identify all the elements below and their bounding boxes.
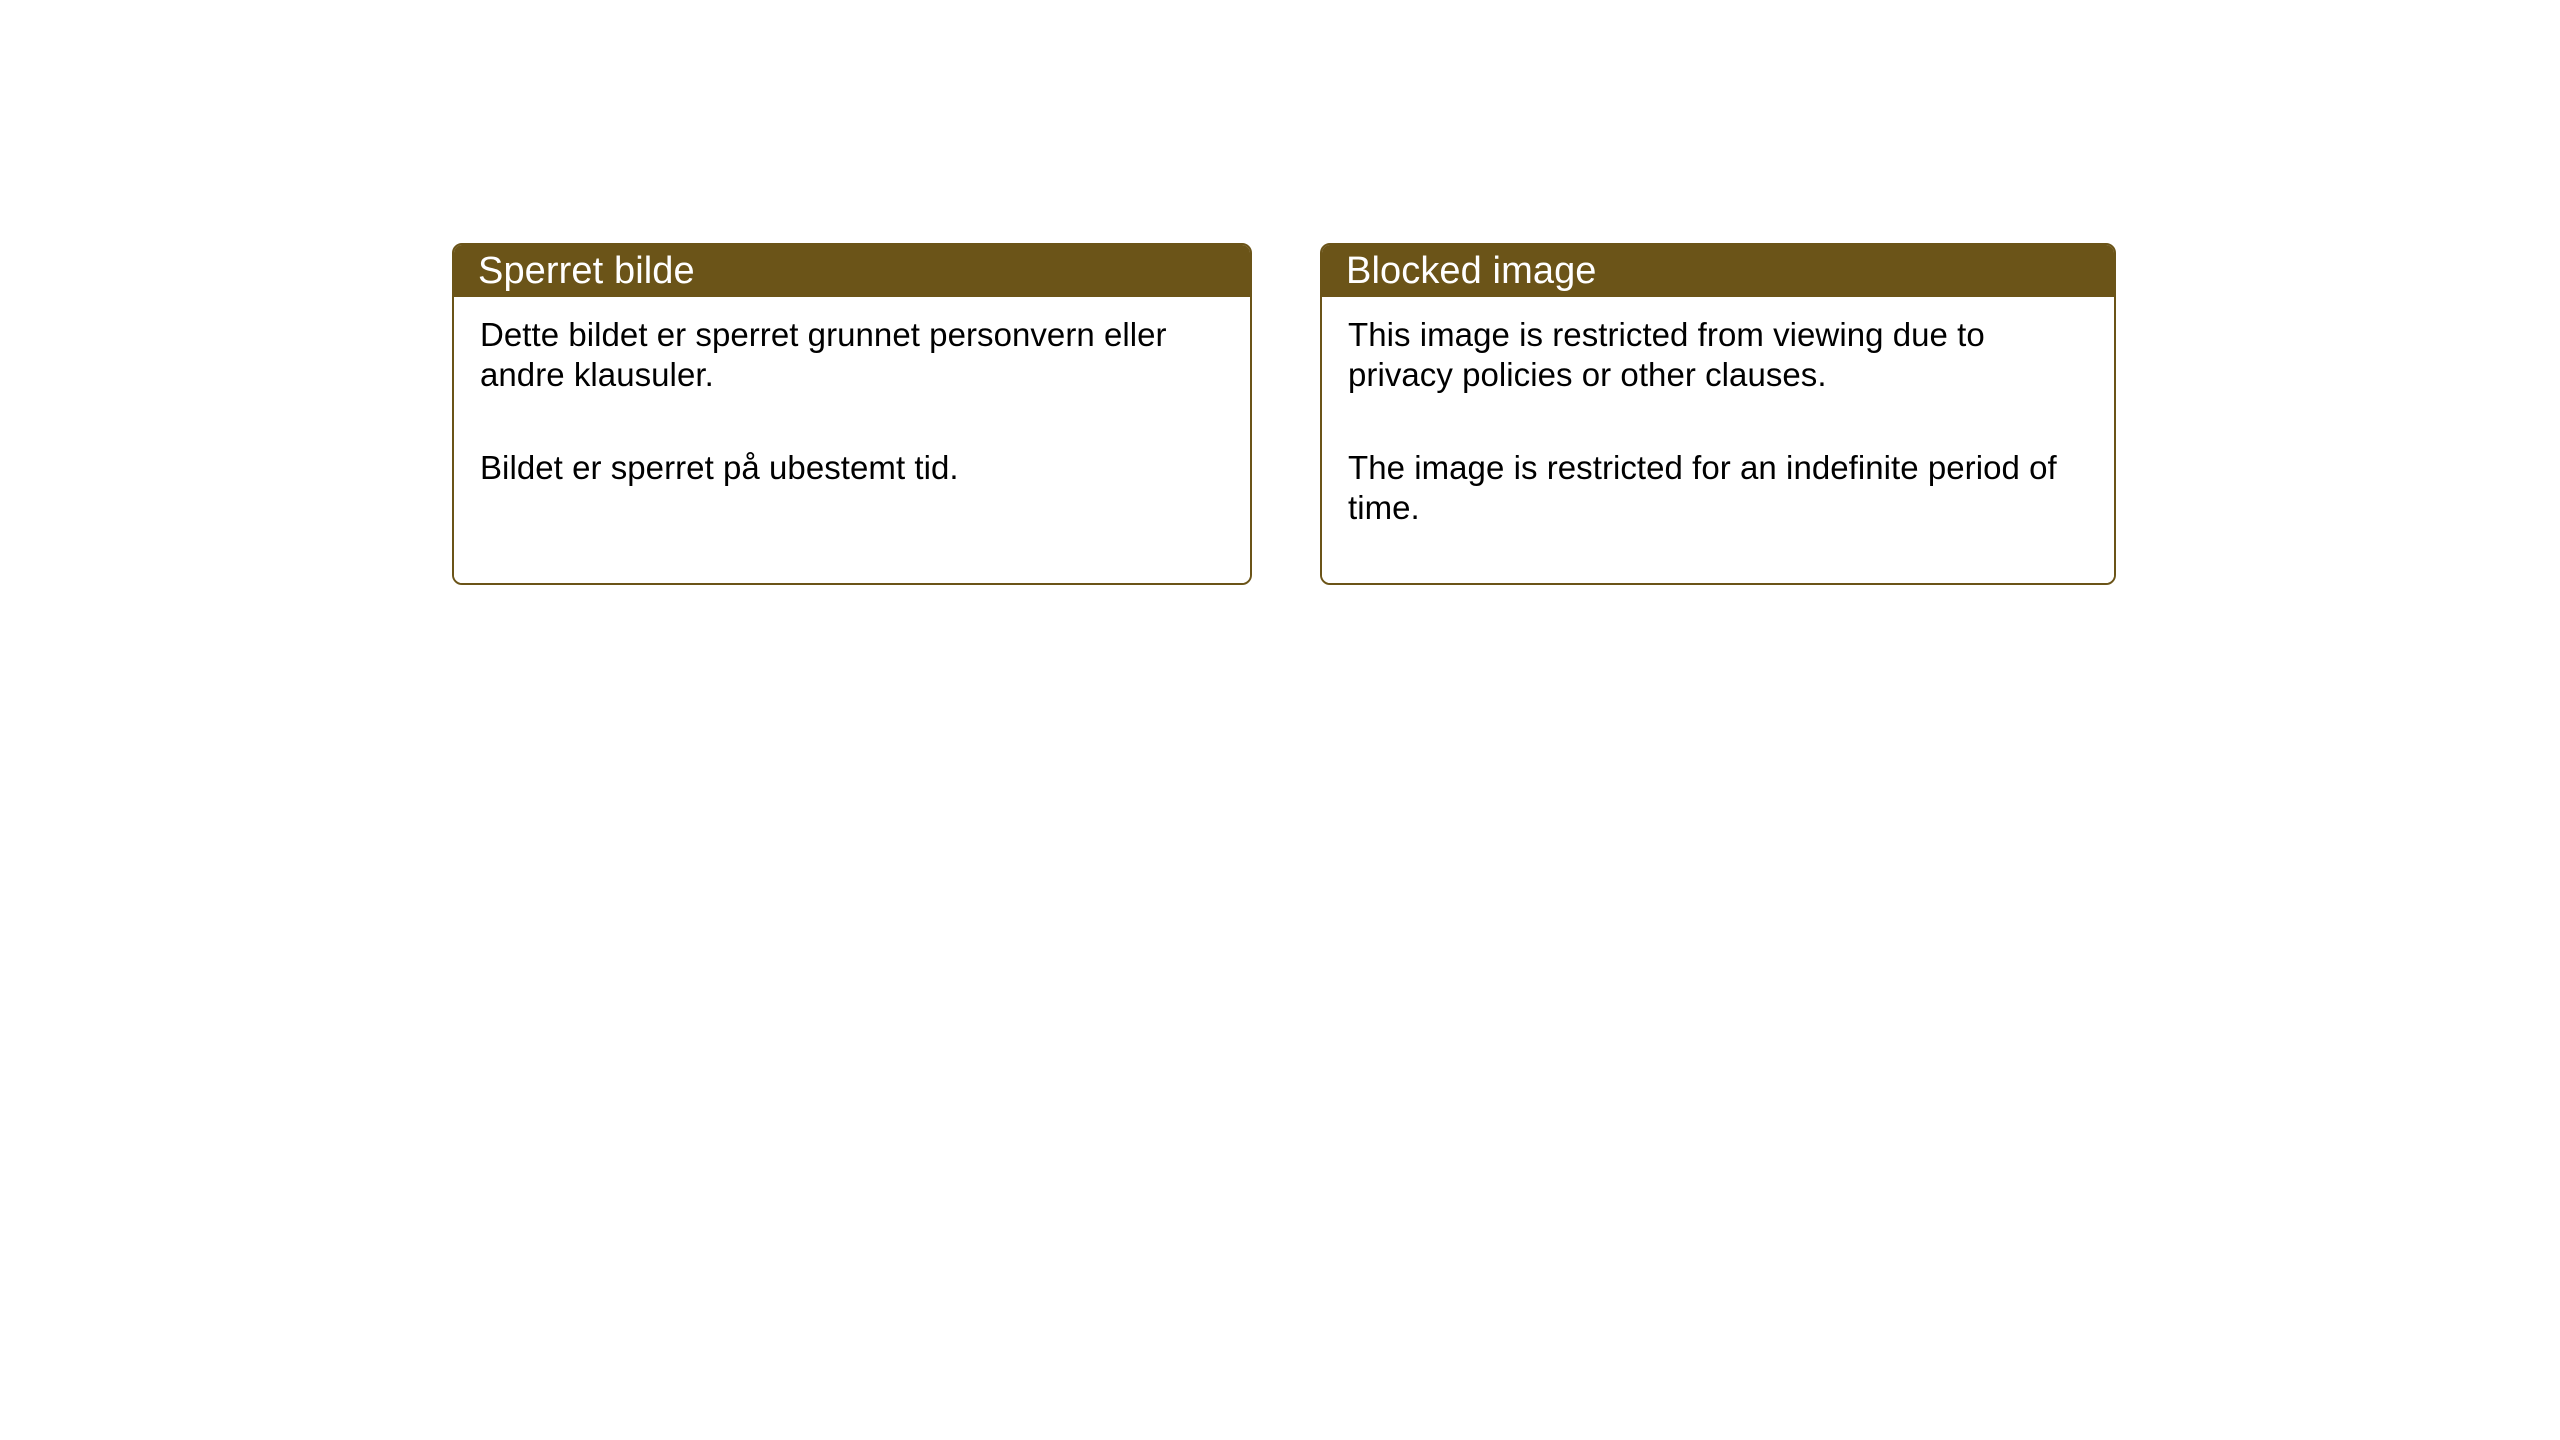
card-header-norwegian: Sperret bilde: [454, 245, 1250, 297]
blocked-image-notice-group: Sperret bilde Dette bildet er sperret gr…: [452, 243, 2116, 585]
card-paragraph-english-1: This image is restricted from viewing du…: [1348, 315, 2088, 396]
blocked-image-card-norwegian: Sperret bilde Dette bildet er sperret gr…: [452, 243, 1252, 585]
card-body-english: This image is restricted from viewing du…: [1322, 297, 2114, 583]
card-paragraph-norwegian-2: Bildet er sperret på ubestemt tid.: [480, 448, 1224, 488]
card-paragraph-norwegian-1: Dette bildet er sperret grunnet personve…: [480, 315, 1224, 396]
card-title-english: Blocked image: [1346, 252, 1597, 290]
card-body-norwegian: Dette bildet er sperret grunnet personve…: [454, 297, 1250, 583]
card-paragraph-english-2: The image is restricted for an indefinit…: [1348, 448, 2088, 529]
page-root: Sperret bilde Dette bildet er sperret gr…: [0, 0, 2560, 1440]
card-title-norwegian: Sperret bilde: [478, 252, 695, 290]
card-header-english: Blocked image: [1322, 245, 2114, 297]
blocked-image-card-english: Blocked image This image is restricted f…: [1320, 243, 2116, 585]
